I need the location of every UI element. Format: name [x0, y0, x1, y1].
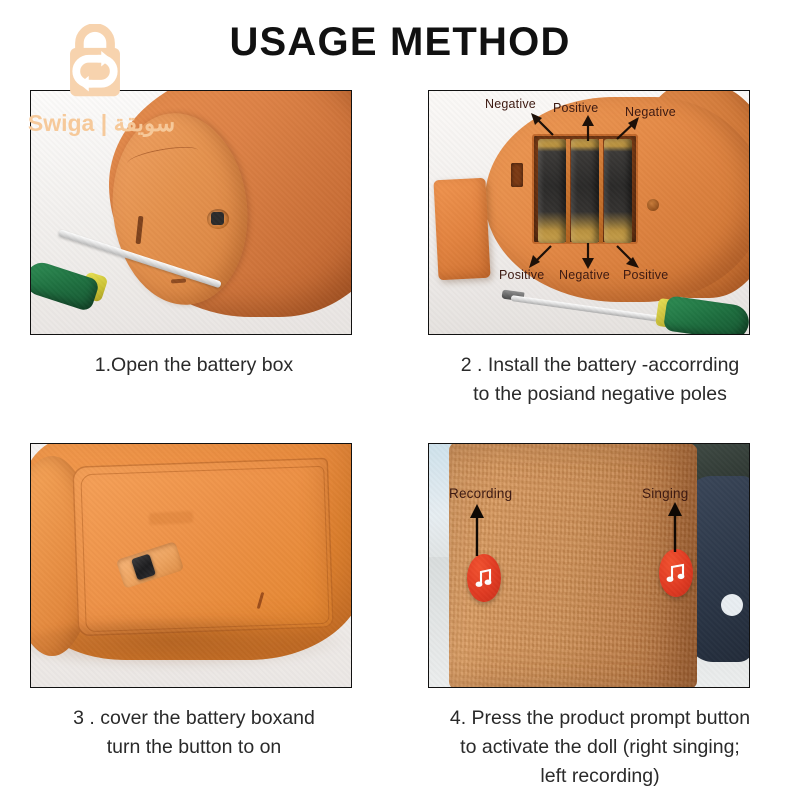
battery-cover-removed	[433, 178, 490, 281]
arrow-down-right-icon	[615, 244, 641, 268]
step-4: Recording Singing 4. Press the produ	[420, 443, 780, 791]
battery-2	[571, 139, 599, 243]
screw-head	[211, 212, 224, 225]
annotation-negative-bottom-center: Negative	[559, 268, 610, 282]
music-note-button-right[interactable]	[659, 549, 693, 597]
battery-contact	[511, 163, 523, 187]
annotation-positive-top-center: Positive	[553, 101, 598, 115]
arrow-up-icon-singing	[667, 502, 683, 552]
step-2-photo: Negative Positive Negative	[428, 90, 750, 335]
battery-3	[604, 139, 632, 243]
annotation-singing: Singing	[642, 486, 688, 501]
cover-seam	[80, 466, 329, 632]
music-note-icon	[666, 563, 686, 583]
step-3-photo	[30, 443, 352, 688]
cover-emboss-text	[149, 511, 194, 525]
arrow-down-icon	[581, 243, 595, 269]
annotation-positive-bottom-left: Positive	[499, 268, 544, 282]
annotation-negative-top-left: Negative	[485, 97, 536, 111]
annotation-positive-bottom-right: Positive	[623, 268, 668, 282]
arrow-up-icon-recording	[469, 504, 485, 556]
step-1: 1.Open the battery box	[14, 90, 374, 380]
step-3: 3 . cover the battery boxand turn the bu…	[14, 443, 374, 762]
step-3-caption: 3 . cover the battery boxand turn the bu…	[14, 704, 374, 762]
arrow-up-left-icon	[529, 113, 555, 137]
compartment-divider	[566, 139, 570, 243]
base-shadow	[30, 620, 351, 670]
arrow-up-right-icon	[615, 117, 641, 141]
page-title: USAGE METHOD	[0, 20, 800, 65]
arrow-up-icon	[581, 115, 595, 141]
background-white-dot	[721, 594, 743, 616]
step-4-photo: Recording Singing	[428, 443, 750, 688]
music-note-button-left[interactable]	[467, 554, 501, 602]
step-1-photo	[30, 90, 352, 335]
usage-method-page: Swiga | سويقة USAGE METHOD 1.Open the ba…	[0, 0, 800, 800]
step-4-caption: 4. Press the product prompt button to ac…	[420, 704, 780, 791]
screw-hole	[647, 199, 659, 211]
battery-1	[538, 139, 566, 243]
step-2: Negative Positive Negative	[420, 90, 780, 409]
steps-grid: 1.Open the battery box	[0, 80, 800, 800]
battery-compartment	[532, 134, 638, 244]
arrow-down-left-icon	[527, 244, 553, 268]
annotation-recording: Recording	[449, 486, 512, 501]
compartment-divider	[599, 139, 603, 243]
music-note-icon	[475, 568, 493, 588]
step-1-caption: 1.Open the battery box	[14, 351, 374, 380]
step-2-caption: 2 . Install the battery -accorrding to t…	[420, 351, 780, 409]
